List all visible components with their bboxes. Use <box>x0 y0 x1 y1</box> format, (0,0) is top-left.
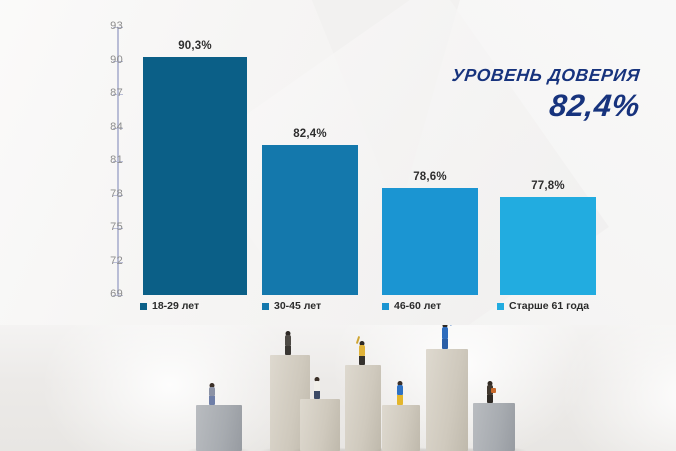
infographic-page: 697275788184879093 90,3%82,4%78,6%77,8% … <box>0 0 676 451</box>
figurine-legs <box>209 396 215 405</box>
legend-swatch-icon <box>382 303 389 310</box>
pedestal-light-3 <box>300 399 340 451</box>
bar-value-label-1: 90,3% <box>143 40 247 52</box>
chart-legend: 18-29 лет30-45 лет46-60 летСтарше 61 год… <box>0 300 676 320</box>
photo-glow-right <box>560 325 676 451</box>
legend-label: 30-45 лет <box>274 300 321 312</box>
bar-chart: 697275788184879093 90,3%82,4%78,6%77,8% <box>0 0 676 325</box>
headline-block: УРОВЕНЬ ДОВЕРИЯ 82,4% <box>452 66 640 124</box>
headline-value: 82,4% <box>450 88 642 124</box>
figurine-legs <box>397 395 403 405</box>
legend-item-4[interactable]: Старше 61 года <box>497 300 589 312</box>
figurine-body <box>359 345 365 356</box>
legend-swatch-icon <box>262 303 269 310</box>
legend-item-2[interactable]: 30-45 лет <box>262 300 321 312</box>
legend-item-3[interactable]: 46-60 лет <box>382 300 441 312</box>
figurine-1 <box>205 383 219 405</box>
legend-swatch-icon <box>140 303 147 310</box>
figurine-legs <box>442 339 448 349</box>
figurine-body <box>285 335 291 346</box>
figurine-body <box>442 327 448 339</box>
photo-glow-left <box>40 325 300 451</box>
figurine-accessory <box>491 388 496 393</box>
headline-kicker: УРОВЕНЬ ДОВЕРИЯ <box>451 66 641 85</box>
legend-label: Старше 61 года <box>509 300 589 312</box>
legend-label: 46-60 лет <box>394 300 441 312</box>
figurine-legs <box>487 395 493 403</box>
figurine-legs <box>314 391 320 399</box>
legend-item-1[interactable]: 18-29 лет <box>140 300 199 312</box>
pedestal-gray-7 <box>473 403 515 451</box>
legend-swatch-icon <box>497 303 504 310</box>
photo-figurines-band <box>0 325 676 451</box>
figurine-6 <box>437 325 453 349</box>
bar-1[interactable] <box>143 57 247 295</box>
figurine-4 <box>355 341 369 365</box>
bar-4[interactable] <box>500 197 596 295</box>
figurine-body <box>397 385 403 395</box>
pedestal-light-4 <box>345 365 381 451</box>
pedestal-gray-1 <box>196 405 242 451</box>
bar-value-label-4: 77,8% <box>500 180 596 192</box>
figurine-7 <box>482 381 498 403</box>
figurine-3 <box>309 377 325 399</box>
figurine-2 <box>281 331 295 355</box>
bar-2[interactable] <box>262 145 358 295</box>
figurine-legs <box>285 346 291 355</box>
bar-value-label-2: 82,4% <box>262 128 358 140</box>
figurine-5 <box>392 381 408 405</box>
bar-value-label-3: 78,6% <box>382 171 478 183</box>
figurine-legs <box>359 356 365 365</box>
y-axis-tick: 93 <box>65 20 123 21</box>
figurine-body <box>314 381 320 391</box>
figurine-body <box>209 387 215 396</box>
pedestal-light-5 <box>382 405 420 451</box>
legend-label: 18-29 лет <box>152 300 199 312</box>
bar-3[interactable] <box>382 188 478 295</box>
pedestal-light-6 <box>426 349 468 451</box>
